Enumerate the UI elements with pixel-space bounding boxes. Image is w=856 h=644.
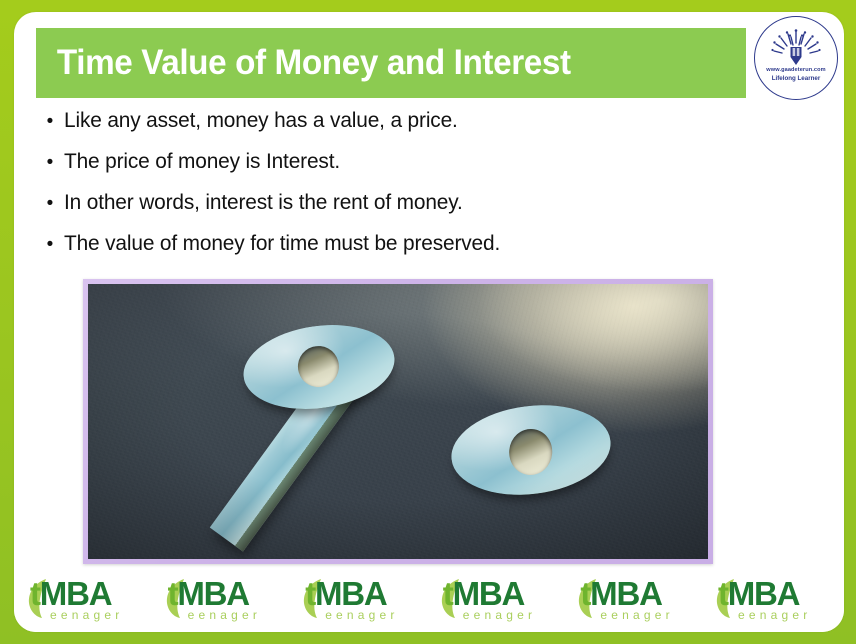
slide-title-bar: Time Value of Money and Interest [36, 28, 746, 98]
tmba-logo: tMBA eenager [20, 575, 150, 623]
tmba-logo: tMBA eenager [433, 575, 563, 623]
tmba-subtext: eenager [738, 608, 811, 622]
bullet-text: The value of money for time must be pres… [64, 231, 500, 256]
tmba-lead-letter: t [30, 575, 40, 612]
tmba-lead-letter: t [305, 575, 315, 612]
bullet-text: Like any asset, money has a value, a pri… [64, 108, 458, 133]
photo-frame [83, 279, 713, 564]
bullet-marker-icon: • [36, 153, 64, 172]
bullet-marker-icon: • [36, 235, 64, 254]
list-item: • The price of money is Interest. [36, 149, 736, 190]
photo-vignette [88, 284, 708, 559]
percent-symbol-photo [88, 284, 708, 559]
bullet-marker-icon: • [36, 112, 64, 131]
list-item: • The value of money for time must be pr… [36, 231, 736, 272]
bullet-marker-icon: • [36, 194, 64, 213]
bullet-text: The price of money is Interest. [64, 149, 340, 174]
tmba-logo: tMBA eenager [708, 575, 838, 623]
tmba-subtext: eenager [50, 608, 123, 622]
brand-logo: www.gaadeterun.com Lifelong Learner [754, 16, 838, 100]
tmba-lead-letter: t [580, 575, 590, 612]
tmba-lead-letter: t [168, 575, 178, 612]
tmba-main-letters: MBA [453, 575, 525, 612]
tmba-main-letters: MBA [728, 575, 800, 612]
tmba-logo: tMBA eenager [295, 575, 425, 623]
list-item: • Like any asset, money has a value, a p… [36, 108, 736, 149]
tmba-main-letters: MBA [590, 575, 662, 612]
bullet-text: In other words, interest is the rent of … [64, 190, 463, 215]
list-item: • In other words, interest is the rent o… [36, 190, 736, 231]
bullet-list: • Like any asset, money has a value, a p… [36, 108, 736, 272]
footer-logo-strip: tMBA eenager tMBA eenager tMBA eenager [14, 570, 844, 632]
brand-logo-tagline: Lifelong Learner [755, 75, 837, 82]
tmba-subtext: eenager [463, 608, 536, 622]
slide-card: Time Value of Money and Interest [14, 12, 844, 632]
presentation-slide: Time Value of Money and Interest [0, 0, 856, 644]
tmba-lead-letter: t [443, 575, 453, 612]
tmba-subtext: eenager [188, 608, 261, 622]
page-title: Time Value of Money and Interest [36, 43, 571, 83]
tmba-logo: tMBA eenager [158, 575, 288, 623]
tmba-main-letters: MBA [40, 575, 112, 612]
pencil-tree-icon [755, 17, 837, 99]
tmba-subtext: eenager [325, 608, 398, 622]
tmba-lead-letter: t [718, 575, 728, 612]
tmba-logo: tMBA eenager [570, 575, 700, 623]
tmba-main-letters: MBA [177, 575, 249, 612]
tmba-subtext: eenager [600, 608, 673, 622]
tmba-main-letters: MBA [315, 575, 387, 612]
brand-logo-website: www.gaadeterun.com [755, 67, 837, 73]
